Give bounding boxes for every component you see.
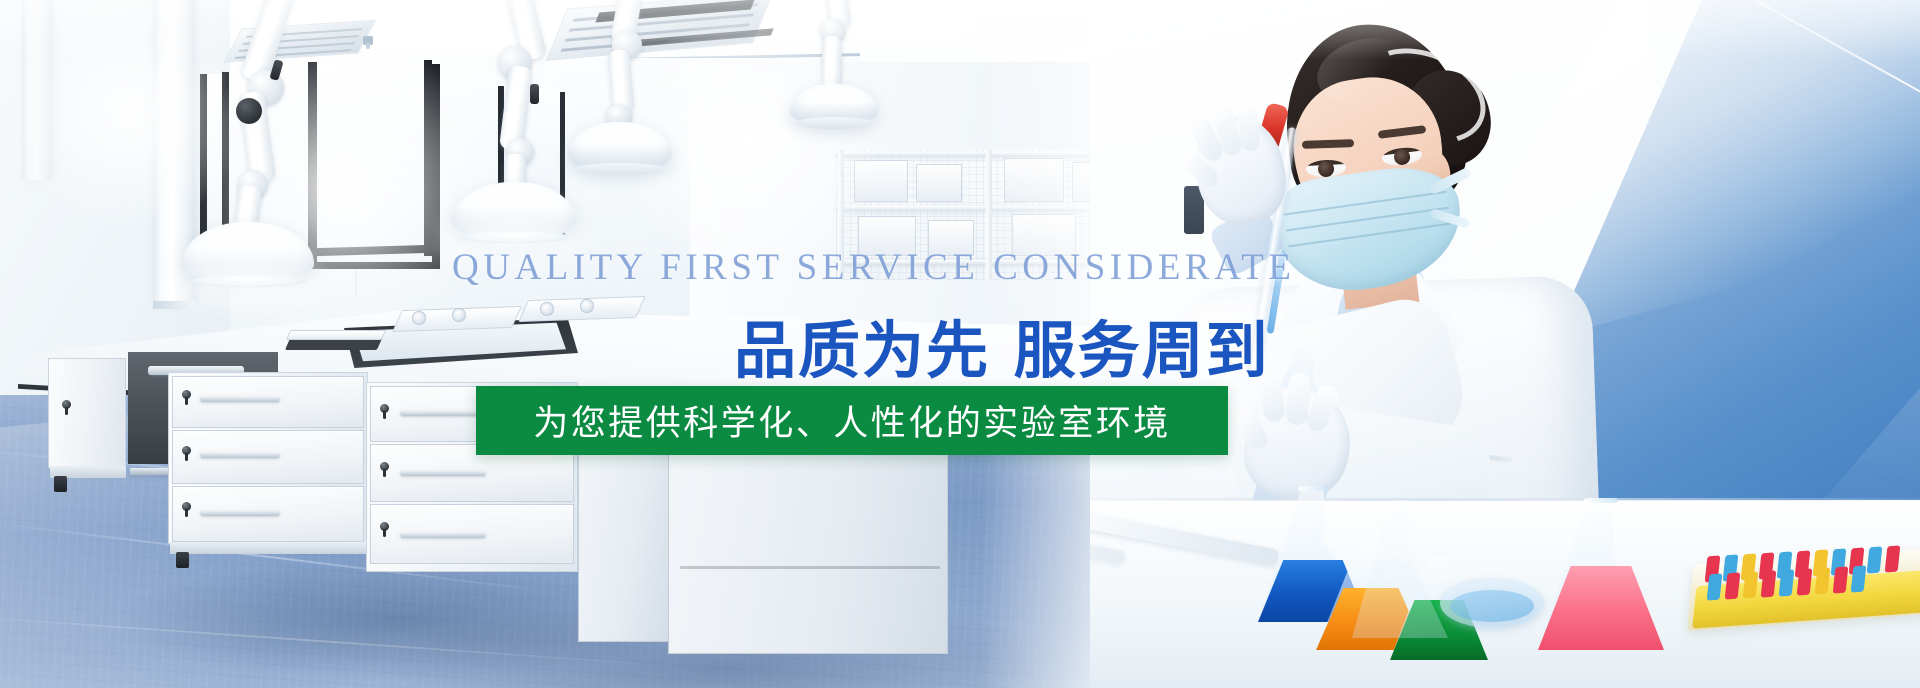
drawer-lock-icon [182, 390, 191, 399]
hero-banner: QUALITY FIRST SERVICE CONSIDERATE 品质为先 服… [0, 0, 1920, 688]
cabinet-lock-icon [62, 400, 71, 409]
structural-column [22, 0, 52, 180]
flask-neck-ring [1584, 498, 1618, 503]
drawer-handle[interactable] [200, 510, 280, 516]
headline-chinese: 品质为先 服务周到 [734, 300, 1270, 390]
subtitle-banner: 为您提供科学化、人性化的实验室环境 [476, 386, 1228, 455]
drawer-handle[interactable] [400, 532, 486, 538]
drawer-lock-icon [182, 502, 191, 511]
drawer[interactable] [172, 376, 364, 428]
subtitle-chinese: 为您提供科学化、人性化的实验室环境 [476, 386, 1228, 455]
drawer-handle[interactable] [400, 470, 486, 476]
window-mullion [308, 62, 317, 262]
drawer-lock-icon [380, 462, 389, 471]
drawer-cabinet [48, 358, 126, 468]
cabinet-foot [54, 476, 67, 492]
drawer-lock-icon [380, 522, 389, 531]
window [310, 64, 440, 269]
window-mullion [424, 60, 432, 256]
drawer-handle[interactable] [200, 396, 280, 402]
drawer-lock-icon [182, 446, 191, 455]
fire-sprinkler-icon [363, 36, 373, 45]
tagline-english: QUALITY FIRST SERVICE CONSIDERATE [452, 246, 1295, 289]
petri-dish-contents [1450, 590, 1534, 622]
flask-neck-ring [1298, 486, 1328, 491]
cabinet-foot [176, 552, 189, 568]
cabinet-plinth [170, 542, 366, 554]
drawer-handle[interactable] [400, 410, 486, 416]
drawer-lock-icon [380, 404, 389, 413]
desk-edge [1090, 498, 1920, 501]
drawer-handle[interactable] [200, 452, 280, 458]
